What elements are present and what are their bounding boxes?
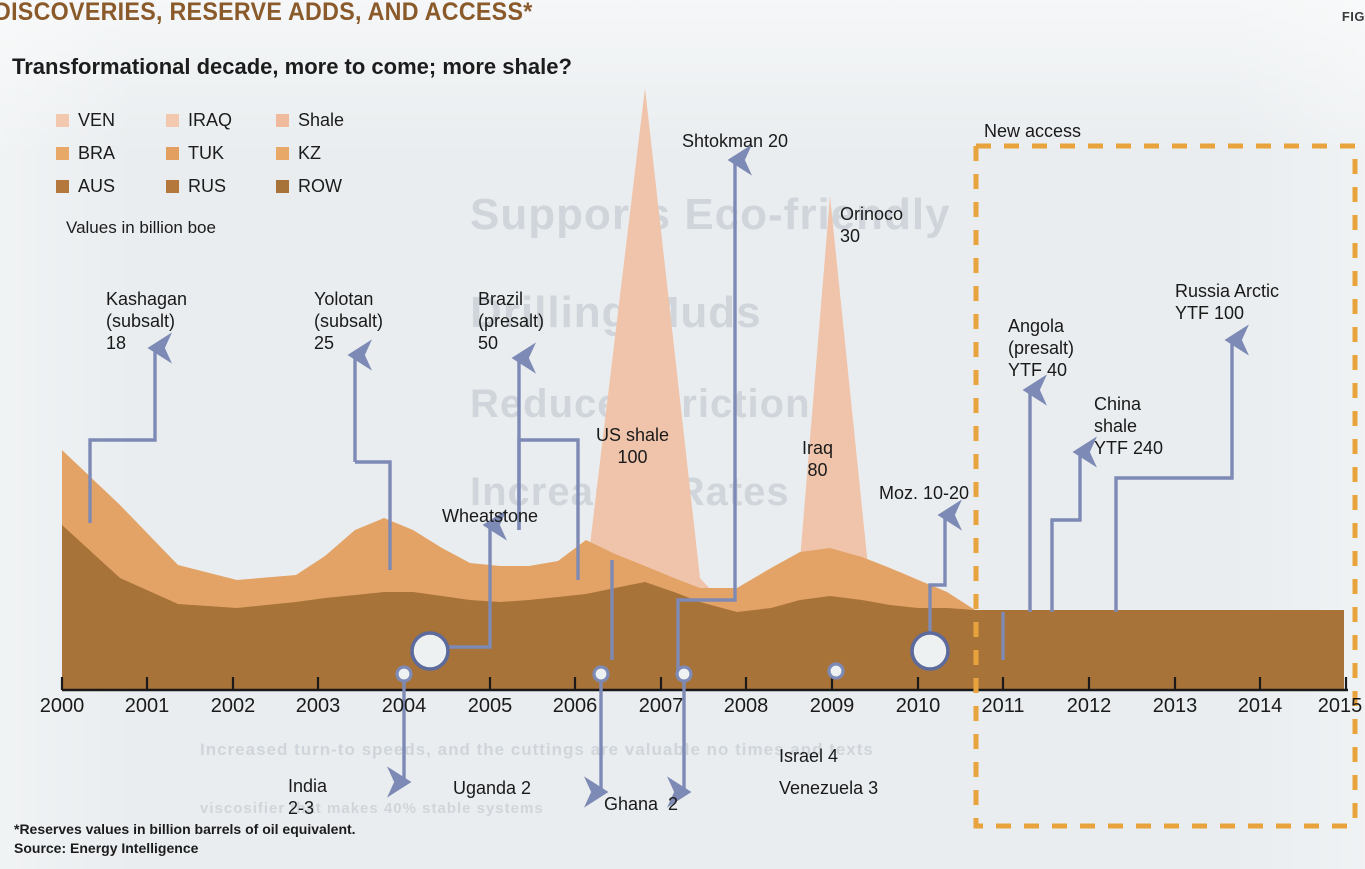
new-access-label: New access xyxy=(984,121,1081,142)
marker-india[interactable] xyxy=(397,667,411,681)
annotation-india: India 2-3 xyxy=(288,775,327,819)
annotation-us-shale: US shale 100 xyxy=(596,424,669,468)
annotation-iraq: Iraq 80 xyxy=(802,437,833,481)
annotation-russia-arctic: Russia Arctic YTF 100 xyxy=(1175,280,1279,324)
xtick-2013: 2013 xyxy=(1153,695,1198,718)
annotation-angola: Angola (presalt) YTF 40 xyxy=(1008,315,1074,381)
annotation-shtokman: Shtokman 20 xyxy=(682,130,788,152)
annotation-venezuela: Venezuela 3 xyxy=(779,777,878,799)
footnotes: *Reserves values in billion barrels of o… xyxy=(14,820,356,858)
xtick-2005: 2005 xyxy=(468,695,513,718)
xtick-2009: 2009 xyxy=(810,695,855,718)
annotation-ghana: Ghana 2 xyxy=(604,793,678,815)
footnote-source: Source: Energy Intelligence xyxy=(14,839,356,858)
xtick-2010: 2010 xyxy=(896,695,941,718)
annotation-orinoco: Orinoco 30 xyxy=(840,203,903,247)
xtick-2004: 2004 xyxy=(382,695,427,718)
xtick-2006: 2006 xyxy=(553,695,598,718)
marker-israel[interactable] xyxy=(677,667,691,681)
xtick-2002: 2002 xyxy=(211,695,256,718)
footnote-reserves: *Reserves values in billion barrels of o… xyxy=(14,820,356,839)
xtick-2000: 2000 xyxy=(40,695,85,718)
area-layer-light xyxy=(565,88,975,620)
marker-uganda[interactable] xyxy=(412,633,448,669)
marker-ghana[interactable] xyxy=(594,667,608,681)
xtick-2007: 2007 xyxy=(639,695,684,718)
annotation-uganda: Uganda 2 xyxy=(453,777,531,799)
marker-mozambique[interactable] xyxy=(912,633,948,669)
annotation-israel: Israel 4 xyxy=(779,745,838,767)
xtick-2003: 2003 xyxy=(296,695,341,718)
new-access-region xyxy=(976,146,1355,826)
annotation-kashagan: Kashagan (subsalt) 18 xyxy=(106,288,187,354)
annotation-wheatstone: Wheatstone xyxy=(442,505,538,527)
annotation-china-shale: China shale YTF 240 xyxy=(1094,393,1163,459)
annotation-brazil: Brazil (presalt) 50 xyxy=(478,288,544,354)
xtick-2012: 2012 xyxy=(1067,695,1112,718)
xtick-2001: 2001 xyxy=(125,695,170,718)
annotation-mozambique: Moz. 10-20 xyxy=(879,482,969,504)
xtick-2015: 2015 xyxy=(1318,695,1363,718)
area-light xyxy=(565,88,975,620)
xtick-2008: 2008 xyxy=(724,695,769,718)
annotation-yolotan: Yolotan (subsalt) 25 xyxy=(314,288,383,354)
xtick-2014: 2014 xyxy=(1238,695,1283,718)
marker-venezuela[interactable] xyxy=(829,664,843,678)
leader-russia-arctic xyxy=(1116,340,1232,612)
leader-china xyxy=(1052,452,1080,612)
figure-root: Supports Eco-friendly Drilling Muds Redu… xyxy=(0,0,1365,869)
xtick-2011: 2011 xyxy=(981,695,1024,718)
